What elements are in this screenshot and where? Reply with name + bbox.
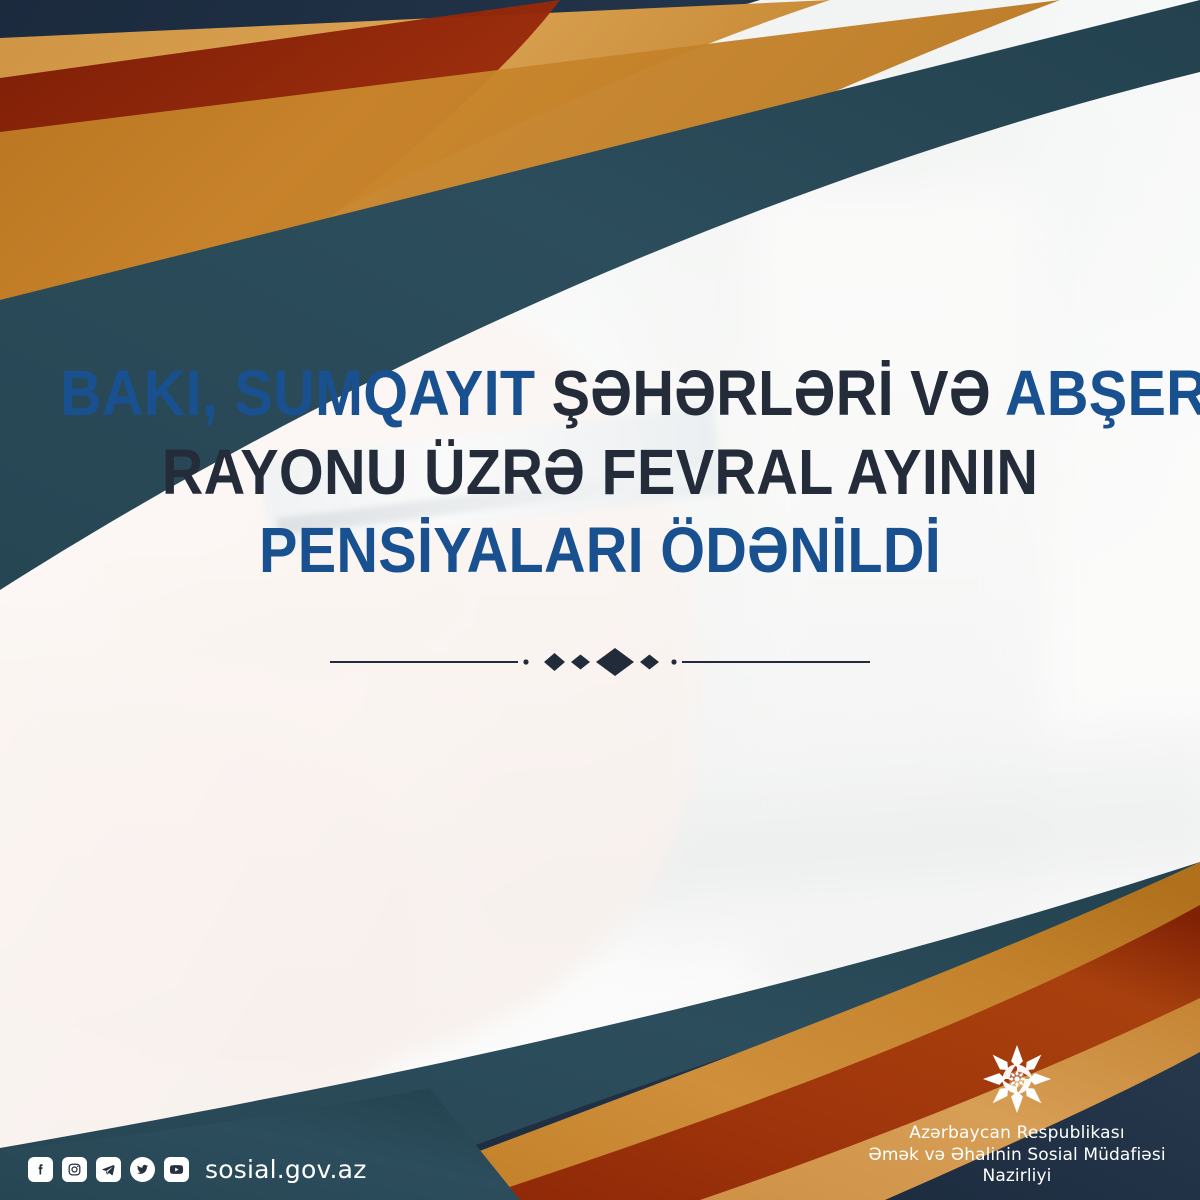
photo-white-overlay <box>0 0 1200 1200</box>
ministry-logo-block: Azərbaycan Respublikası Əmək və Əhalinin… <box>852 1042 1182 1188</box>
ministry-line-1: Azərbaycan Respublikası <box>852 1123 1182 1145</box>
headline-line-2: RAYONU ÜZRƏ FEVRAL AYININ <box>60 441 1140 504</box>
pension-announcement-poster: BAKI, SUMQAYIT ŞƏHƏRLƏRİ VƏ ABŞERON RAYO… <box>0 0 1200 1200</box>
ministry-line-2: Əmək və Əhalinin Sosial Müdafiəsi Nazirl… <box>852 1145 1182 1189</box>
website-url[interactable]: sosial.gov.az <box>205 1155 367 1184</box>
headline-line-1-middle: ŞƏHƏRLƏRİ VƏ <box>535 357 1005 429</box>
headline-line-1: BAKI, SUMQAYIT ŞƏHƏRLƏRİ VƏ ABŞERON <box>60 362 1140 425</box>
facebook-icon[interactable] <box>28 1157 53 1182</box>
youtube-icon[interactable] <box>164 1157 189 1182</box>
headline-line-1-region: ABŞERON <box>1005 357 1200 429</box>
headline: BAKI, SUMQAYIT ŞƏHƏRLƏRİ VƏ ABŞERON RAYO… <box>0 362 1200 582</box>
azerbaijan-eight-pointed-star-emblem <box>852 1042 1182 1116</box>
background-photo <box>0 0 1200 1200</box>
instagram-icon[interactable] <box>62 1157 87 1182</box>
social-links-bar[interactable]: sosial.gov.az <box>28 1155 367 1184</box>
ornamental-diamond-divider <box>0 645 1200 679</box>
telegram-icon[interactable] <box>96 1157 121 1182</box>
twitter-icon[interactable] <box>130 1157 155 1182</box>
headline-line-3: PENSİYALARI ÖDƏNİLDİ <box>60 519 1140 582</box>
headline-line-1-cities: BAKI, SUMQAYIT <box>60 357 535 429</box>
